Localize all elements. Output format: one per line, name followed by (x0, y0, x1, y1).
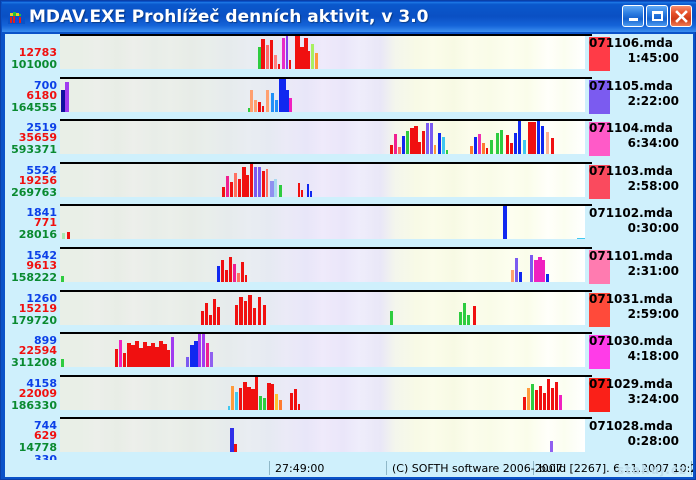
axis-value-label: 593371 (11, 144, 57, 155)
activity-bar (547, 379, 550, 410)
legend-item[interactable]: 071101.mda2:31:00 (585, 247, 689, 282)
activity-bar (282, 38, 285, 69)
activity-bar (228, 406, 230, 410)
activity-bar (298, 183, 300, 197)
status-copyright: (C) SOFTH software 2006-2007 (392, 462, 563, 475)
chart-row[interactable] (60, 290, 585, 325)
activity-bar (233, 264, 236, 282)
activity-bar (422, 131, 425, 154)
activity-bar (250, 90, 253, 112)
maximize-button[interactable] (646, 5, 668, 27)
activity-bar (258, 297, 261, 325)
axis-value-label: 771 (34, 217, 57, 228)
activity-bar (234, 444, 237, 452)
chart-row[interactable] (60, 162, 585, 197)
activity-bar (294, 389, 297, 410)
legend-file-name: 071101.mda (589, 249, 689, 263)
activity-bar (239, 388, 242, 410)
minimize-icon (629, 18, 638, 21)
axis-value-label: 311208 (11, 357, 57, 368)
row-background (60, 334, 585, 367)
activity-bar (551, 138, 554, 154)
activity-bar (235, 305, 238, 325)
legend-duration: 2:31:00 (585, 264, 679, 278)
activity-bar (266, 169, 268, 197)
chart-row[interactable] (60, 77, 585, 112)
activity-bar (478, 134, 481, 154)
activity-bar (259, 396, 262, 410)
activity-bar (438, 133, 441, 154)
activity-bar (467, 315, 470, 325)
window-controls (622, 5, 692, 27)
activity-bar (205, 303, 208, 325)
maximize-icon (652, 11, 663, 21)
close-button[interactable] (670, 5, 692, 27)
activity-bar (473, 306, 476, 325)
status-bar: 27:49:00 (C) SOFTH software 2006-2007 bu… (5, 460, 693, 477)
activity-bar (418, 142, 421, 154)
legend-duration: 0:28:00 (585, 434, 679, 448)
activity-bar (250, 164, 253, 197)
axis-value-label: 158222 (11, 272, 57, 283)
legend-duration: 4:18:00 (585, 349, 679, 363)
chart-row[interactable] (60, 417, 585, 452)
axis-value-label: 164555 (11, 102, 57, 113)
activity-bar (230, 182, 233, 197)
activity-bar (279, 185, 282, 197)
activity-bar (546, 132, 549, 154)
activity-bar (229, 257, 232, 282)
axis-value-label: 19256 (19, 175, 57, 186)
activity-bar (198, 334, 201, 367)
legend-file-name: 071102.mda (589, 206, 689, 220)
activity-bar (263, 305, 266, 325)
activity-bar (225, 270, 228, 282)
legend-item[interactable]: 071028.mda0:28:00 (585, 417, 689, 452)
legend-file-name: 071028.mda (589, 419, 689, 433)
activity-bar (254, 100, 257, 112)
activity-bar (119, 340, 122, 367)
legend-item[interactable]: 071105.mda2:22:00 (585, 77, 689, 112)
legend-duration: 2:59:00 (585, 307, 679, 321)
activity-bar (446, 150, 448, 154)
axis-value-label: 22594 (19, 345, 57, 356)
activity-bar (253, 308, 256, 325)
activity-bar (237, 273, 240, 282)
activity-bar (245, 275, 247, 282)
activity-bar (266, 45, 269, 69)
legend-file-name: 071106.mda (589, 36, 689, 50)
activity-bar (430, 123, 433, 154)
activity-bar (511, 270, 514, 282)
mdav-app-icon (7, 8, 26, 27)
activity-bar (275, 394, 278, 410)
activity-bar (266, 90, 269, 112)
legend-file-name: 071030.mda (589, 334, 689, 348)
legend-duration: 2:58:00 (585, 179, 679, 193)
axis-value-label: 629 (34, 430, 57, 441)
activity-bar (263, 398, 266, 410)
activity-bar (537, 121, 540, 154)
activity-bar (426, 123, 429, 154)
activity-bar (535, 390, 538, 410)
legend-item[interactable]: 071029.mda3:24:00 (585, 375, 689, 410)
activity-bar (459, 312, 462, 325)
legend-duration: 2:22:00 (585, 94, 679, 108)
activity-bar (406, 131, 409, 154)
status-total-time: 27:49:00 (275, 462, 324, 475)
activity-bar (206, 343, 209, 367)
legend-item[interactable]: 071031.mda2:59:00 (585, 290, 689, 325)
axis-value-label: 35659 (19, 132, 57, 143)
value-gutter: 1278310100070061801645552519356595933715… (5, 34, 60, 460)
activity-bar (542, 260, 545, 282)
activity-bar (500, 130, 503, 154)
activity-bar (241, 262, 244, 282)
client-area: 1278310100070061801645552519356595933715… (5, 34, 693, 477)
activity-bar (201, 311, 204, 325)
activity-bar (222, 187, 225, 197)
activity-bar (210, 352, 213, 367)
activity-bar (286, 36, 288, 69)
activity-bar (308, 51, 310, 69)
activity-bar (261, 39, 265, 69)
activity-bar (398, 147, 401, 154)
activity-bar (271, 93, 274, 112)
legend-item[interactable]: 071104.mda6:34:00 (585, 119, 689, 154)
row-background (60, 292, 585, 325)
activity-bar (510, 143, 513, 154)
activity-bar (463, 303, 466, 325)
row-background (60, 164, 585, 197)
activity-bar (577, 238, 585, 239)
activity-bar (541, 126, 544, 154)
activity-bar (279, 79, 286, 112)
activity-bar (559, 395, 562, 410)
activity-bar (258, 102, 261, 112)
activity-bar (434, 145, 436, 154)
activity-bar (217, 266, 220, 282)
activity-bar (301, 190, 303, 197)
activity-bar (298, 404, 300, 410)
legend-duration: 3:24:00 (585, 392, 679, 406)
chart-row[interactable] (60, 375, 585, 410)
activity-bar (523, 140, 526, 154)
app-window: MDAV.EXE Prohlížeč denních aktivit, v 3.… (0, 0, 696, 480)
activity-bar (518, 121, 521, 154)
chart-row[interactable] (60, 204, 585, 239)
activity-bar (527, 388, 530, 410)
close-icon (675, 10, 688, 23)
activity-bar (235, 392, 238, 410)
chart-row[interactable] (60, 119, 585, 154)
axis-value-label: 28016 (19, 229, 57, 240)
activity-bar (514, 133, 517, 154)
watermark: stahuj.cz (617, 463, 687, 477)
row-background (60, 121, 585, 154)
row-background (60, 206, 585, 239)
activity-bar (290, 393, 293, 410)
activity-bar (315, 53, 318, 69)
activity-bar (61, 276, 64, 282)
legend-file-name: 071031.mda (589, 292, 689, 306)
legend-item[interactable]: 071102.mda0:30:00 (585, 204, 689, 239)
axis-value-label: 101000 (11, 59, 57, 70)
activity-bar (311, 44, 314, 69)
legend-file-name: 071104.mda (589, 121, 689, 135)
activity-bar (490, 140, 493, 154)
activity-bar (289, 98, 292, 112)
axis-value-label: 9613 (26, 260, 57, 271)
legend-duration: 0:30:00 (585, 221, 679, 235)
activity-bar (515, 258, 518, 282)
activity-bar (244, 301, 247, 325)
activity-bar (254, 167, 257, 197)
legend-file-name: 071029.mda (589, 377, 689, 391)
activity-bar (543, 393, 546, 410)
activity-bar (270, 40, 273, 69)
activity-bar (402, 136, 405, 154)
activity-bar (486, 148, 488, 154)
activity-bar (115, 349, 118, 367)
chart-row[interactable] (60, 332, 585, 367)
activity-bar (239, 297, 243, 325)
activity-bar (550, 441, 553, 452)
activity-bar (307, 184, 309, 197)
chart-row[interactable] (60, 34, 585, 69)
activity-bar (238, 179, 241, 197)
activity-bar (528, 122, 536, 154)
activity-bar (209, 315, 212, 325)
axis-value-label: 15219 (19, 303, 57, 314)
activity-bar (62, 233, 65, 239)
activity-bar (531, 384, 534, 410)
activity-bar (231, 386, 234, 410)
activity-bar (289, 60, 291, 69)
activity-bar (279, 400, 282, 410)
activity-bar (234, 173, 237, 197)
activity-bar (221, 260, 224, 282)
activity-bar (213, 299, 216, 325)
activity-bar (123, 353, 126, 367)
activity-bar (262, 171, 265, 197)
activity-bar (262, 106, 264, 112)
axis-value-label: 12783 (19, 47, 57, 58)
activity-bar (255, 377, 258, 410)
activity-bar (246, 175, 249, 197)
activity-bar (310, 191, 312, 197)
minimize-button[interactable] (622, 5, 644, 27)
legend-file-name: 071103.mda (589, 164, 689, 178)
activity-bar (470, 146, 473, 154)
activity-bar (61, 359, 64, 367)
activity-chart[interactable] (60, 34, 585, 460)
axis-value-label: 22009 (19, 388, 57, 399)
axis-value-label: 269763 (11, 187, 57, 198)
activity-bar (274, 55, 277, 69)
activity-bar (226, 176, 229, 197)
legend-item[interactable]: 071103.mda2:58:00 (585, 162, 689, 197)
row-background (60, 419, 585, 452)
activity-bar (167, 350, 170, 367)
row-background (60, 36, 585, 69)
row-background (60, 377, 585, 410)
activity-bar (555, 382, 558, 410)
activity-bar (248, 295, 252, 325)
row-background (60, 249, 585, 282)
activity-bar (390, 145, 393, 154)
activity-bar (482, 143, 485, 154)
activity-bar (539, 386, 542, 410)
axis-value-label: 14778 (19, 442, 57, 453)
legend-item[interactable]: 071030.mda4:18:00 (585, 332, 689, 367)
activity-bar (523, 397, 526, 410)
axis-value-label: 6180 (26, 90, 57, 101)
activity-bar (258, 167, 261, 197)
legend-duration: 1:45:00 (585, 51, 679, 65)
activity-bar (67, 232, 70, 239)
activity-bar (390, 311, 393, 325)
activity-bar (186, 357, 189, 367)
activity-bar (274, 179, 277, 197)
activity-bar (530, 255, 533, 282)
axis-value-label: 179720 (11, 315, 57, 326)
activity-bar (546, 274, 549, 282)
window-title: MDAV.EXE Prohlížeč denních aktivit, v 3.… (29, 7, 429, 27)
activity-bar (171, 337, 174, 367)
activity-bar (275, 100, 278, 112)
activity-bar (394, 134, 397, 154)
activity-bar (442, 137, 445, 154)
activity-bar (474, 137, 477, 154)
file-legend[interactable]: 071106.mda1:45:00071105.mda2:22:00071104… (585, 34, 689, 460)
activity-bar (506, 135, 509, 154)
activity-bar (519, 272, 522, 282)
activity-bar (271, 384, 274, 410)
activity-bar (65, 82, 69, 112)
legend-duration: 6:34:00 (585, 136, 679, 150)
axis-value-label: 186330 (11, 400, 57, 411)
activity-bar (217, 307, 220, 325)
activity-bar (503, 206, 507, 239)
legend-item[interactable]: 071106.mda1:45:00 (585, 34, 689, 69)
activity-bar (496, 133, 499, 154)
row-background (60, 79, 585, 112)
chart-row[interactable] (60, 247, 585, 282)
activity-bar (202, 334, 205, 367)
legend-file-name: 071105.mda (589, 79, 689, 93)
activity-bar (278, 64, 280, 69)
activity-bar (551, 388, 554, 410)
title-bar: MDAV.EXE Prohlížeč denních aktivit, v 3.… (2, 2, 696, 32)
